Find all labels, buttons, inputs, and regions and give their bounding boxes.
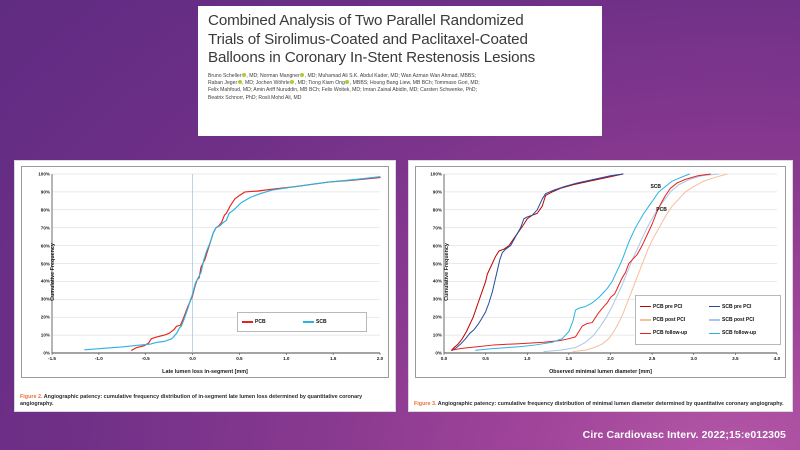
figure-3-caption-text: Angiographic patency: cumulative frequen… [436, 401, 783, 407]
legend-color-swatch [640, 306, 651, 307]
legend-color-swatch [709, 306, 720, 307]
legend-color-swatch [709, 333, 720, 334]
curve-annotation: PCB [656, 207, 667, 213]
author-list: Bruno Scheller, MD; Norman Mangner, MD; … [208, 73, 594, 102]
x-axis-tick-label: 3.0 [691, 356, 697, 361]
y-axis-tick-label: 100% [38, 172, 50, 177]
page-title: Combined Analysis of Two Parallel Random… [208, 12, 594, 68]
figure-2-caption-text: Angiographic patency: cumulative frequen… [20, 394, 362, 407]
legend-item: SCB pre PCI [709, 304, 776, 310]
legend-item: PCB follow-up [640, 330, 707, 336]
legend-label: SCB [316, 319, 327, 325]
y-axis-tick-label: 60% [41, 243, 50, 248]
x-axis-tick-label: 0.5 [236, 356, 242, 361]
slide-canvas: Combined Analysis of Two Parallel Random… [0, 0, 800, 450]
figure-3-caption: Figure 3. Angiographic patency: cumulati… [414, 401, 788, 408]
figure-3-plot-area: 0%10%20%30%40%50%60%70%80%90%100%0.00.51… [416, 167, 785, 377]
x-axis-title: Late lumen loss in-segment [mm] [22, 369, 388, 375]
orcid-icon [242, 73, 246, 77]
legend-color-swatch [242, 321, 253, 322]
y-axis-tick-label: 30% [41, 297, 50, 302]
figure-2-panel: 0%10%20%30%40%50%60%70%80%90%100%-1.5-1.… [14, 160, 396, 412]
title-card: Combined Analysis of Two Parallel Random… [198, 6, 602, 136]
legend-label: SCB follow-up [722, 330, 756, 336]
x-axis-tick-label: 2.5 [649, 356, 655, 361]
y-axis-tick-label: 10% [433, 333, 442, 338]
y-axis-tick-label: 0% [435, 351, 442, 356]
y-axis-tick-label: 50% [41, 261, 50, 266]
figure-2-caption-label: Figure 2. [20, 394, 42, 400]
x-axis-tick-label: 0.0 [189, 356, 195, 361]
y-axis-tick-label: 30% [433, 297, 442, 302]
figure-3-caption-label: Figure 3. [414, 401, 436, 407]
x-axis-tick-label: 1.5 [566, 356, 572, 361]
x-axis-title: Observed minimal lumen diameter [mm] [416, 369, 785, 375]
legend-item: SCB follow-up [709, 330, 776, 336]
legend-item: PCB post PCI [640, 317, 707, 323]
series-line [451, 174, 623, 350]
x-axis-tick-label: 1.0 [283, 356, 289, 361]
chart-legend: PCBSCB [237, 312, 367, 332]
y-axis-tick-label: 40% [433, 279, 442, 284]
orcid-icon [300, 73, 304, 77]
x-axis-tick-label: 4.0 [774, 356, 780, 361]
figure-2-plot-area: 0%10%20%30%40%50%60%70%80%90%100%-1.5-1.… [22, 167, 388, 377]
journal-citation: Circ Cardiovasc Interv. 2022;15:e012305 [583, 429, 786, 441]
y-axis-tick-label: 90% [41, 189, 50, 194]
y-axis-tick-label: 50% [433, 261, 442, 266]
y-axis-tick-label: 70% [433, 225, 442, 230]
legend-color-swatch [303, 321, 314, 322]
legend-color-swatch [640, 319, 651, 320]
legend-label: PCB pre PCI [653, 304, 682, 310]
y-axis-tick-label: 10% [41, 333, 50, 338]
legend-color-swatch [709, 319, 720, 320]
legend-label: PCB [255, 319, 266, 325]
x-axis-tick-label: 0.0 [441, 356, 447, 361]
y-axis-title: Cumulative Frequency [50, 243, 56, 301]
x-axis-tick-label: -1.0 [95, 356, 103, 361]
y-axis-tick-label: 20% [433, 315, 442, 320]
y-axis-tick-label: 80% [433, 207, 442, 212]
figure-3-chart: 0%10%20%30%40%50%60%70%80%90%100%0.00.51… [415, 166, 786, 378]
y-axis-tick-label: 20% [41, 315, 50, 320]
series-line [452, 174, 623, 350]
orcid-icon [345, 80, 349, 84]
x-axis-tick-label: 3.5 [732, 356, 738, 361]
legend-item: SCB [303, 319, 362, 325]
legend-color-swatch [640, 333, 651, 334]
x-axis-tick-label: 1.0 [524, 356, 530, 361]
figure-2-chart-svg [22, 167, 388, 377]
y-axis-tick-label: 70% [41, 225, 50, 230]
figure-2-chart: 0%10%20%30%40%50%60%70%80%90%100%-1.5-1.… [21, 166, 389, 378]
y-axis-tick-label: 60% [433, 243, 442, 248]
x-axis-tick-label: 2.0 [377, 356, 383, 361]
figure-2-caption: Figure 2. Angiographic patency: cumulati… [20, 394, 391, 408]
curve-annotation: SCB [650, 184, 661, 190]
legend-label: PCB follow-up [653, 330, 687, 336]
orcid-icon [238, 80, 242, 84]
y-axis-tick-label: 90% [433, 189, 442, 194]
legend-label: SCB pre PCI [722, 304, 751, 310]
x-axis-tick-label: 2.0 [607, 356, 613, 361]
legend-item: PCB pre PCI [640, 304, 707, 310]
y-axis-title: Cumulative Frequency [444, 243, 450, 301]
figure-3-chart-svg [416, 167, 785, 377]
x-axis-tick-label: -0.5 [142, 356, 150, 361]
legend-item: PCB [242, 319, 301, 325]
x-axis-tick-label: -1.5 [48, 356, 56, 361]
y-axis-tick-label: 40% [41, 279, 50, 284]
x-axis-tick-label: 1.5 [330, 356, 336, 361]
y-axis-tick-label: 0% [43, 351, 50, 356]
chart-legend: PCB pre PCISCB pre PCIPCB post PCISCB po… [635, 295, 781, 345]
legend-label: SCB post PCI [722, 317, 754, 323]
y-axis-tick-label: 80% [41, 207, 50, 212]
y-axis-tick-label: 100% [430, 172, 442, 177]
figure-3-panel: 0%10%20%30%40%50%60%70%80%90%100%0.00.51… [408, 160, 793, 412]
legend-label: PCB post PCI [653, 317, 685, 323]
legend-item: SCB post PCI [709, 317, 776, 323]
x-axis-tick-label: 0.5 [482, 356, 488, 361]
orcid-icon [290, 80, 294, 84]
